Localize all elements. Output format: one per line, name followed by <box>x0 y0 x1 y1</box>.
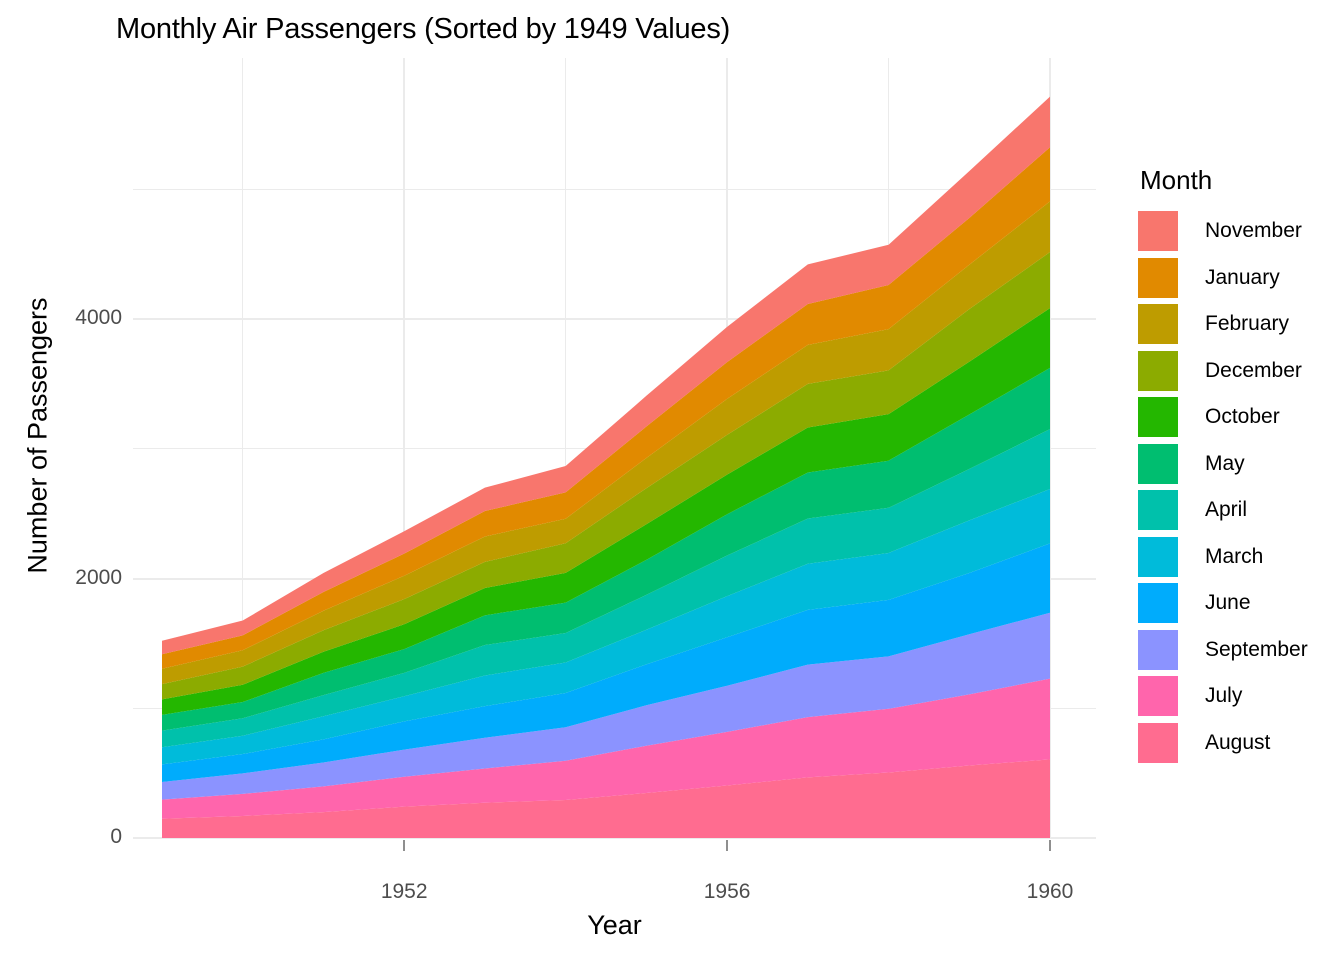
x-tick-mark-1960 <box>1049 840 1051 851</box>
legend-label: January <box>1205 266 1280 290</box>
legend-label: December <box>1205 359 1302 383</box>
x-tick-mark-1956 <box>726 840 728 851</box>
legend-item-april[interactable]: April <box>1138 487 1344 534</box>
chart-title: Monthly Air Passengers (Sorted by 1949 V… <box>116 13 730 46</box>
legend-label: June <box>1205 591 1251 615</box>
legend-label: September <box>1205 638 1308 662</box>
legend-item-october[interactable]: October <box>1138 394 1344 441</box>
legend-swatch-icon-june <box>1138 583 1178 623</box>
x-tick-label-1956: 1956 <box>704 880 751 904</box>
legend-item-june[interactable]: June <box>1138 580 1344 627</box>
legend-item-july[interactable]: July <box>1138 673 1344 720</box>
legend-item-february[interactable]: February <box>1138 301 1344 348</box>
x-tick-label-1952: 1952 <box>381 880 428 904</box>
y-tick-label-2000: 2000 <box>75 566 122 590</box>
legend-swatch-icon-january <box>1138 258 1178 298</box>
legend-label: March <box>1205 545 1263 569</box>
stacked-area-plot <box>133 58 1096 839</box>
legend-item-november[interactable]: November <box>1138 208 1344 255</box>
y-tick-label-4000: 4000 <box>75 306 122 330</box>
x-tick-label-1960: 1960 <box>1027 880 1074 904</box>
legend-item-september[interactable]: September <box>1138 627 1344 674</box>
legend-swatch-icon-february <box>1138 304 1178 344</box>
legend-swatch-icon-september <box>1138 630 1178 670</box>
legend-swatch-icon-october <box>1138 397 1178 437</box>
legend-swatch-icon-december <box>1138 351 1178 391</box>
legend-item-december[interactable]: December <box>1138 348 1344 395</box>
plot-panel <box>133 58 1096 839</box>
legend-swatch-icon-november <box>1138 211 1178 251</box>
legend-label: July <box>1205 684 1242 708</box>
legend-label: February <box>1205 312 1289 336</box>
legend-item-august[interactable]: August <box>1138 720 1344 767</box>
legend-label: August <box>1205 731 1270 755</box>
legend-swatch-icon-march <box>1138 537 1178 577</box>
legend-item-march[interactable]: March <box>1138 534 1344 581</box>
legend: Month NovemberJanuaryFebruaryDecemberOct… <box>1138 165 1344 766</box>
legend-swatch-icon-july <box>1138 676 1178 716</box>
legend-item-january[interactable]: January <box>1138 255 1344 302</box>
chart-root: Monthly Air Passengers (Sorted by 1949 V… <box>0 0 1344 960</box>
legend-label: October <box>1205 405 1280 429</box>
legend-item-may[interactable]: May <box>1138 441 1344 488</box>
legend-label: May <box>1205 452 1245 476</box>
legend-label: November <box>1205 219 1302 243</box>
legend-title: Month <box>1140 165 1344 196</box>
legend-items: NovemberJanuaryFebruaryDecemberOctoberMa… <box>1138 208 1344 766</box>
legend-swatch-icon-april <box>1138 490 1178 530</box>
legend-label: April <box>1205 498 1247 522</box>
y-tick-label-0: 0 <box>110 825 122 849</box>
y-axis-title: Number of Passengers <box>23 226 54 646</box>
x-tick-mark-1952 <box>403 840 405 851</box>
x-axis-title: Year <box>133 910 1096 941</box>
legend-swatch-icon-may <box>1138 444 1178 484</box>
legend-swatch-icon-august <box>1138 723 1178 763</box>
